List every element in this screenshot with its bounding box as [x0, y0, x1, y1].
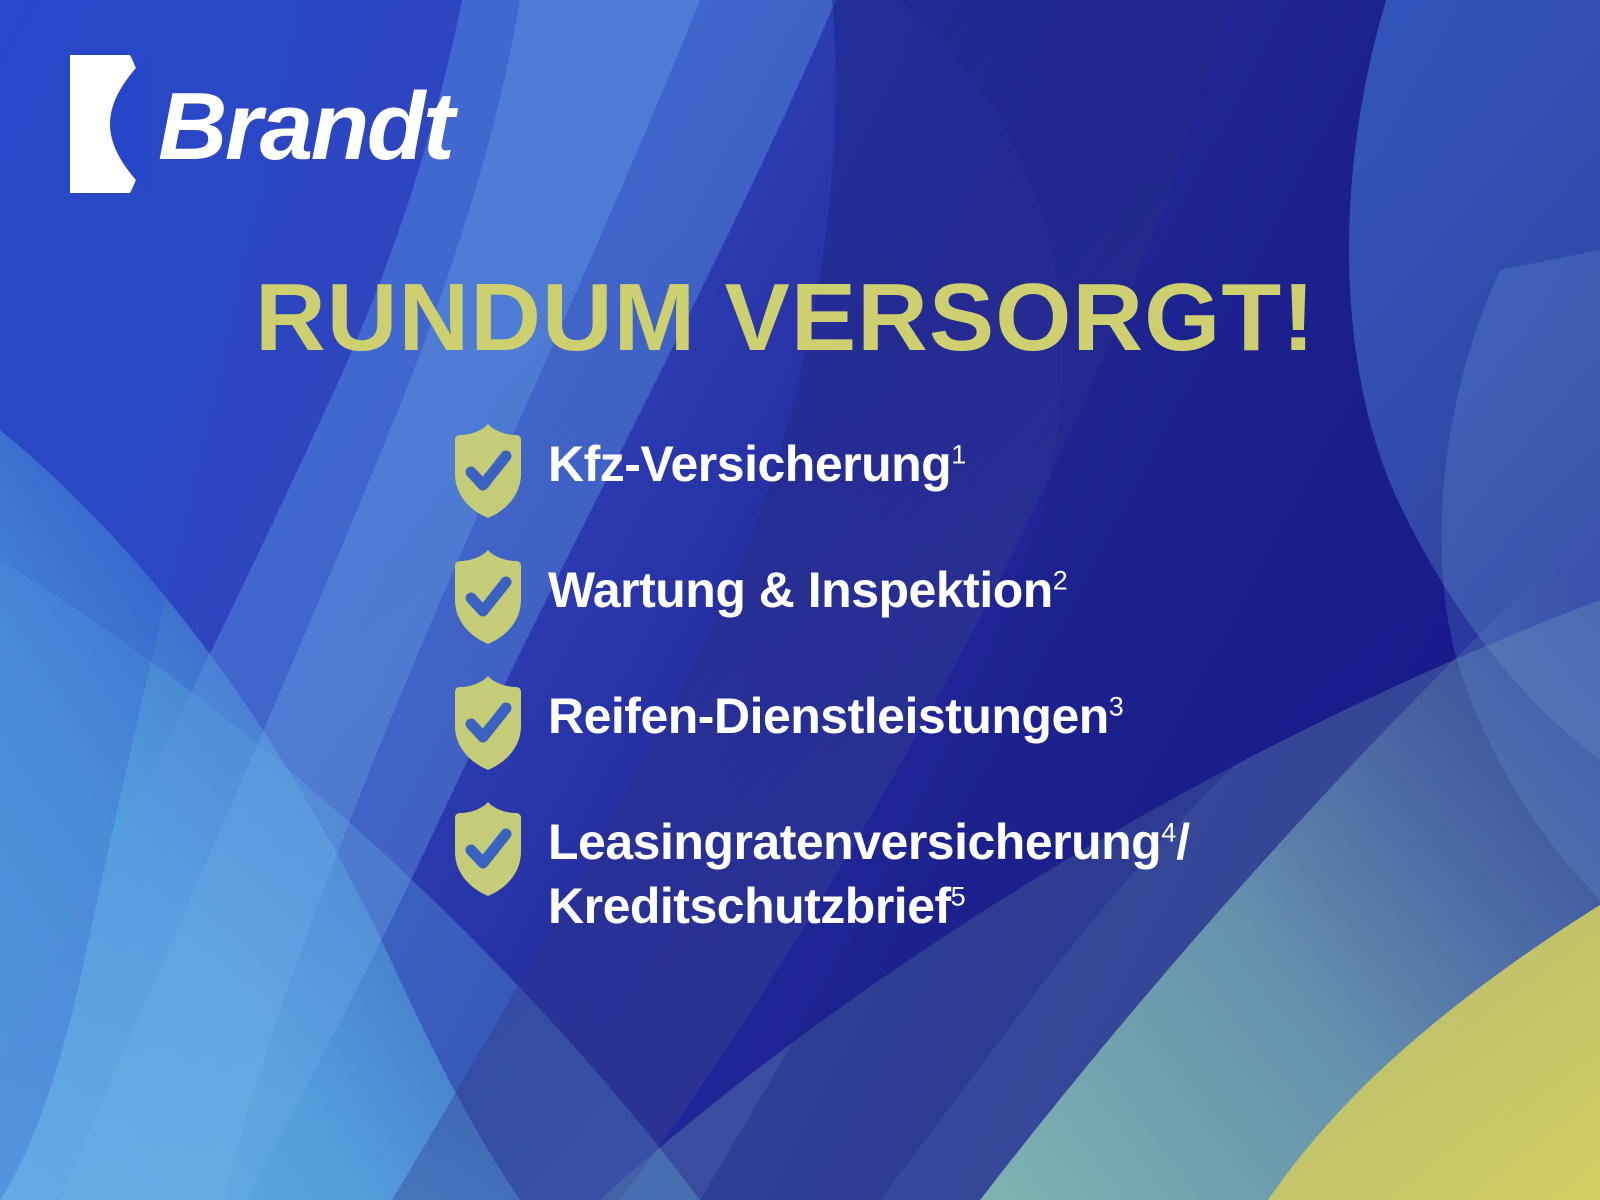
poster-canvas: Brandt RUNDUM VERSORGT! Kfz-Versicherung… [0, 0, 1600, 1200]
feature-label: Leasingratenversicherung4/ Kreditschutzb… [548, 796, 1190, 938]
feature-separator: / [1176, 814, 1189, 870]
page-title: RUNDUM VERSORGT! [255, 270, 1316, 366]
feature-list: Kfz-Versicherung1 Wartung & Inspektion2 [452, 418, 1452, 938]
feature-label-text: Leasingratenversicherung [548, 814, 1161, 870]
shield-check-icon [452, 674, 524, 772]
feature-label: Reifen-Dienstleistungen3 [548, 670, 1124, 748]
feature-label-text: Reifen-Dienstleistungen [548, 688, 1109, 744]
list-item: Leasingratenversicherung4/ Kreditschutzb… [452, 796, 1452, 938]
shield-check-icon [452, 548, 524, 646]
feature-label-text-second: Kreditschutzbrief [548, 878, 951, 934]
list-item: Wartung & Inspektion2 [452, 544, 1452, 646]
feature-label: Wartung & Inspektion2 [548, 544, 1068, 622]
brand-wordmark: Brandt [158, 79, 452, 175]
feature-footnote-marker-second: 5 [951, 881, 966, 911]
feature-footnote-marker: 3 [1109, 691, 1124, 721]
feature-label-text: Wartung & Inspektion [548, 562, 1053, 618]
feature-label: Kfz-Versicherung1 [548, 418, 966, 496]
brand-logo[interactable]: Brandt [70, 55, 452, 193]
brandt-bracket-icon [70, 55, 148, 193]
shield-check-icon [452, 422, 524, 520]
list-item: Kfz-Versicherung1 [452, 418, 1452, 520]
shield-check-icon [452, 800, 524, 898]
feature-footnote-marker: 2 [1053, 565, 1068, 595]
feature-footnote-marker: 4 [1161, 817, 1176, 847]
list-item: Reifen-Dienstleistungen3 [452, 670, 1452, 772]
feature-footnote-marker: 1 [951, 439, 966, 469]
feature-label-text: Kfz-Versicherung [548, 436, 951, 492]
